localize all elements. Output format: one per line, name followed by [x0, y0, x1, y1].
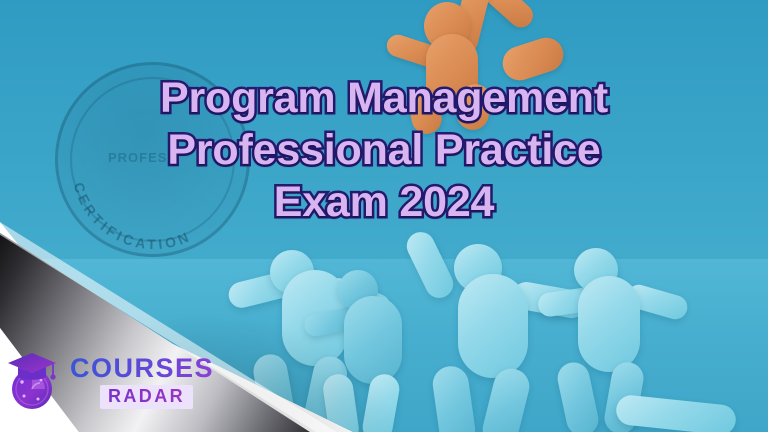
crowd-leg: [555, 359, 602, 432]
title-line-1: Program Management: [0, 72, 768, 124]
logo-courses-text: COURSES: [70, 354, 214, 383]
logo-radar-text: RADAR: [108, 386, 185, 406]
clay-figure-crowd-3: [556, 250, 736, 432]
graduation-cap-radar-icon: [8, 350, 62, 412]
courses-radar-logo[interactable]: COURSES RADAR: [8, 350, 214, 412]
logo-radar-badge: RADAR: [100, 385, 193, 409]
logo-wordmark: COURSES RADAR: [70, 354, 214, 409]
crowd-leg: [430, 364, 477, 432]
title-line-3: Exam 2024: [0, 176, 768, 228]
crowd-torso: [458, 274, 528, 378]
crowd-torso: [578, 276, 640, 372]
title-line-2: Professional Practice: [0, 124, 768, 176]
course-banner: PROFES CERTIFICATION: [0, 0, 768, 432]
banner-title: Program Management Professional Practice…: [0, 72, 768, 228]
